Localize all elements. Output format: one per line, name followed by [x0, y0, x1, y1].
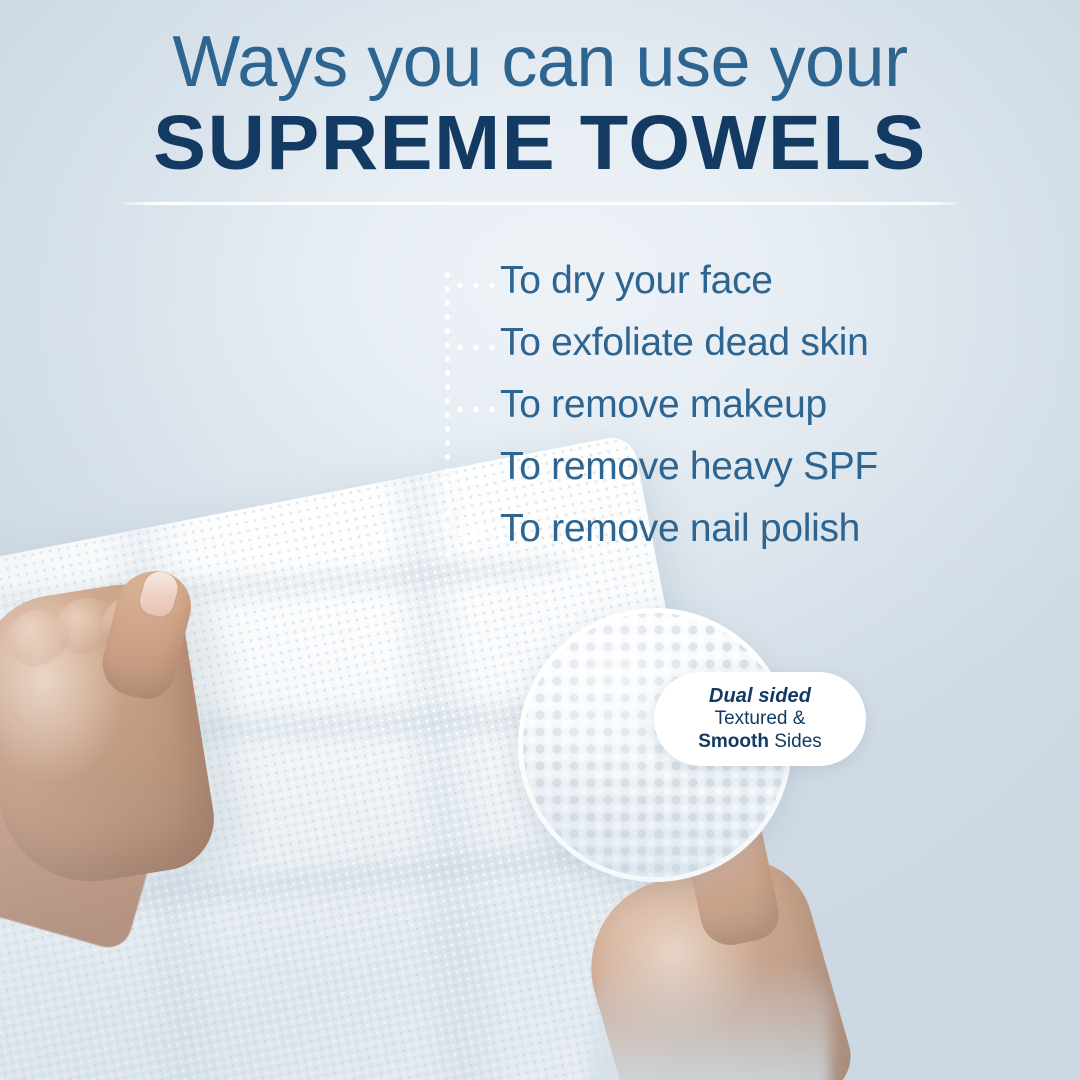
dual-sided-badge: Dual sided Textured & Smooth Sides — [654, 672, 866, 766]
header-divider — [122, 202, 958, 205]
headline-brand: SUPREME TOWELS — [0, 105, 1080, 182]
badge-subtitle-rest: Sides — [769, 731, 822, 752]
list-item: To remove heavy SPF — [500, 436, 1000, 498]
list-item: To remove makeup — [500, 374, 1000, 436]
dotted-spine-line — [445, 268, 450, 564]
right-hand-fade — [590, 960, 830, 1080]
list-item: To dry your face — [500, 250, 1000, 312]
product-infographic: Ways you can use your SUPREME TOWELS To … — [0, 0, 1080, 1080]
list-item: To exfoliate dead skin — [500, 312, 1000, 374]
dotted-connector — [452, 531, 498, 536]
uses-list-section: To dry your face To exfoliate dead skin … — [440, 250, 1000, 580]
dotted-connector — [452, 345, 498, 350]
dotted-connector — [452, 283, 498, 288]
dotted-connector — [452, 407, 498, 412]
badge-subtitle-bold: Smooth — [698, 731, 769, 752]
dotted-connector — [452, 469, 498, 474]
left-hand — [0, 560, 260, 980]
badge-subtitle-line1: Textured & — [715, 708, 806, 730]
headline-primary: Ways you can use your — [0, 26, 1080, 99]
list-item: To remove nail polish — [500, 498, 1000, 560]
badge-title: Dual sided — [709, 685, 811, 708]
uses-list: To dry your face To exfoliate dead skin … — [500, 250, 1000, 560]
badge-subtitle-line2: Smooth Sides — [698, 731, 822, 753]
page-header: Ways you can use your SUPREME TOWELS — [0, 0, 1080, 182]
